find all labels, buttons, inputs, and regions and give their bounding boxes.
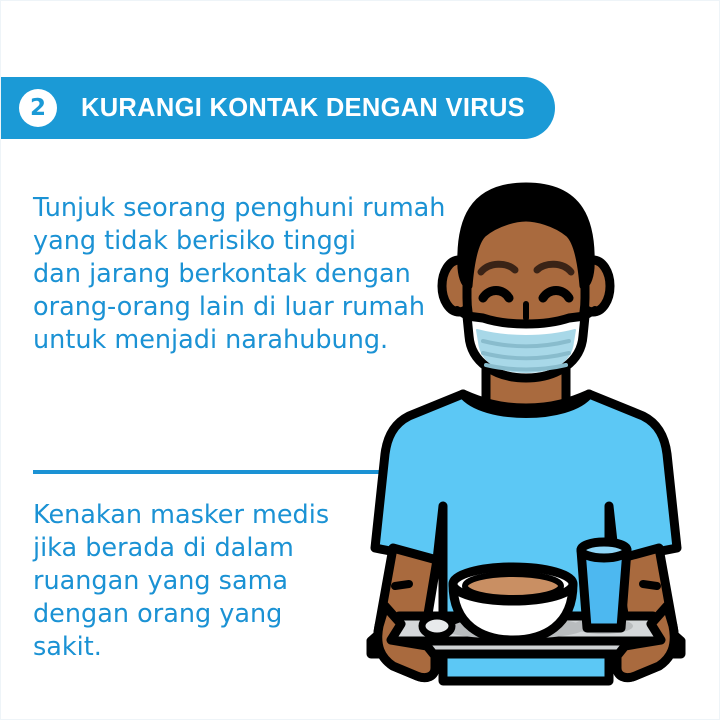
step-header-banner: 2 KURANGI KONTAK DENGAN VIRUS	[0, 77, 555, 139]
water-surface	[581, 542, 627, 558]
step-number-badge: 2	[19, 89, 57, 127]
mask-loop-left	[457, 310, 467, 316]
paragraph-secondary: Kenakan masker medis jika berada di dala…	[33, 499, 363, 664]
left-elbow-crease	[395, 584, 409, 586]
soup-contents	[465, 574, 561, 598]
spoon-bowl	[422, 616, 452, 636]
mask-loop-right	[585, 310, 595, 316]
banner-title: KURANGI KONTAK DENGAN VIRUS	[81, 94, 525, 123]
infographic-page: 2 KURANGI KONTAK DENGAN VIRUS Tunjuk seo…	[0, 0, 720, 720]
illustration-man-with-tray	[331, 176, 720, 686]
right-elbow-crease	[643, 584, 657, 586]
